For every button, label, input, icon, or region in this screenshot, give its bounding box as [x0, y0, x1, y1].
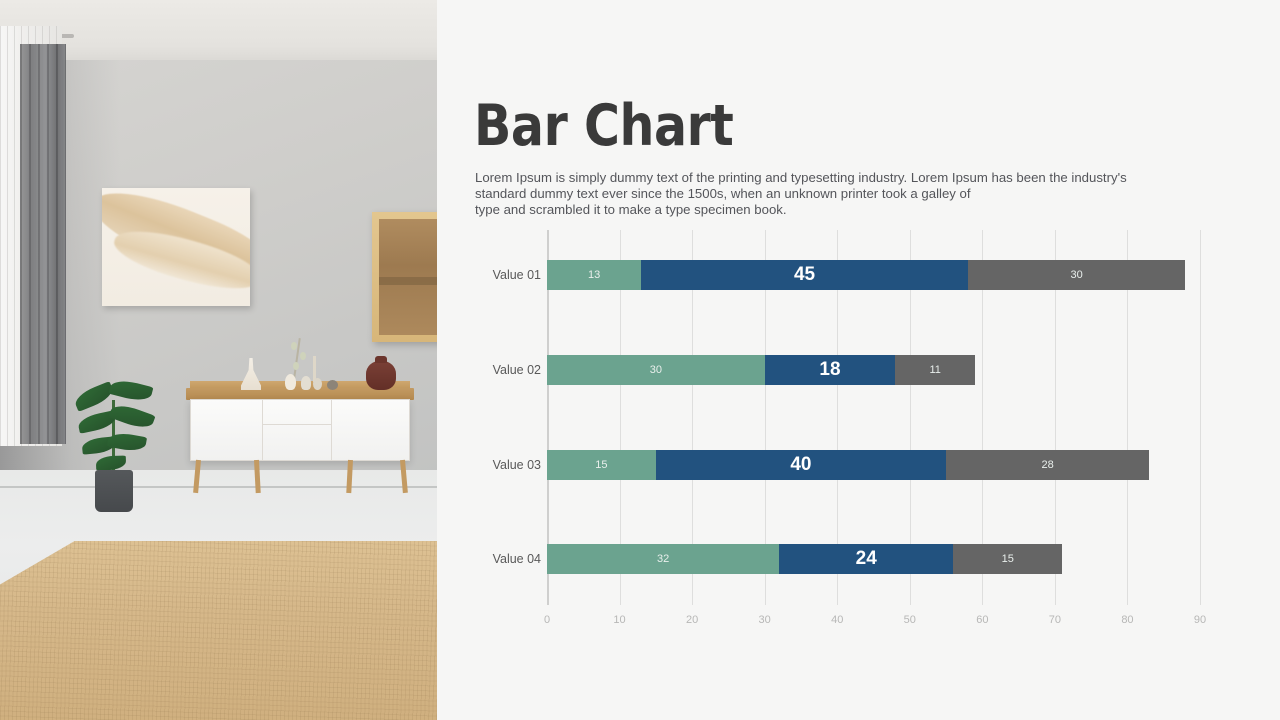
chart-row: Value 03154028 [547, 450, 1200, 480]
bar-segment[interactable]: 40 [656, 450, 946, 480]
decor-object [285, 374, 296, 390]
bar-value-label: 15 [595, 459, 607, 471]
jute-rug [0, 541, 437, 720]
bar-segment[interactable]: 18 [765, 355, 896, 385]
x-tick-label-20: 20 [686, 614, 698, 626]
bar-segment[interactable]: 45 [641, 260, 968, 290]
bar-value-label: 18 [819, 359, 840, 381]
x-tick-label-80: 80 [1121, 614, 1133, 626]
bar-value-label: 15 [1002, 553, 1014, 565]
bar-segment[interactable]: 30 [547, 355, 765, 385]
x-tick-label-90: 90 [1194, 614, 1206, 626]
x-tick-label-60: 60 [976, 614, 988, 626]
bar-segment[interactable]: 15 [953, 544, 1062, 574]
chart-row: Value 01134530 [547, 260, 1200, 290]
decor-object [327, 380, 338, 390]
chart-row: Value 04322415 [547, 544, 1200, 574]
bar-segment[interactable]: 32 [547, 544, 779, 574]
abstract-canvas-art [102, 188, 250, 306]
page-subtitle: Lorem Ipsum is simply dummy text of the … [475, 170, 1175, 219]
bar-segment[interactable]: 24 [779, 544, 953, 574]
terracotta-vase [366, 361, 396, 390]
bar-segment[interactable]: 11 [895, 355, 975, 385]
x-tick-label-70: 70 [1049, 614, 1061, 626]
branch-bud [293, 362, 299, 370]
sideboard-drawer-line [263, 424, 331, 425]
slide: Bar Chart Lorem Ipsum is simply dummy te… [0, 0, 1280, 720]
x-tick-label-10: 10 [613, 614, 625, 626]
bar-segment[interactable]: 15 [547, 450, 656, 480]
bar-value-label: 13 [588, 269, 600, 281]
gridline-90 [1200, 230, 1201, 605]
plant-pot [95, 470, 133, 512]
row-label-1: Value 01 [421, 260, 541, 290]
chart-row: Value 02301811 [547, 355, 1200, 385]
row-label-4: Value 04 [421, 544, 541, 574]
content-panel: Bar Chart Lorem Ipsum is simply dummy te… [437, 0, 1280, 720]
bar-value-label: 32 [657, 553, 669, 565]
bar-value-label: 30 [650, 364, 662, 376]
floor-wall-joint [0, 486, 437, 488]
bar-value-label: 11 [929, 364, 940, 376]
x-tick-label-0: 0 [544, 614, 550, 626]
row-label-2: Value 02 [421, 355, 541, 385]
x-tick-label-40: 40 [831, 614, 843, 626]
dark-curtain [20, 44, 66, 444]
sideboard-body [190, 399, 410, 461]
chart-plot-area: 0102030405060708090Value 01134530Value 0… [547, 230, 1200, 605]
row-label-3: Value 03 [421, 450, 541, 480]
x-tick-label-30: 30 [759, 614, 771, 626]
bar-value-label: 30 [1071, 269, 1083, 281]
bar-value-label: 24 [856, 548, 877, 570]
decor-object [301, 376, 311, 390]
bar-segment[interactable]: 30 [968, 260, 1186, 290]
bar-segment[interactable]: 28 [946, 450, 1149, 480]
bar-value-label: 28 [1041, 459, 1053, 471]
sideboard-divider [331, 400, 332, 460]
bar-value-label: 40 [790, 454, 811, 476]
page-title: Bar Chart [474, 98, 733, 155]
x-tick-label-50: 50 [904, 614, 916, 626]
bar-value-label: 45 [794, 264, 815, 286]
bar-segment[interactable]: 13 [547, 260, 641, 290]
branch-bud [291, 342, 297, 350]
decor-object [313, 378, 322, 390]
interior-photo [0, 0, 437, 720]
sideboard-divider [262, 400, 263, 460]
bar-chart: 0102030405060708090Value 01134530Value 0… [437, 230, 1280, 650]
branch-bud [300, 352, 306, 360]
